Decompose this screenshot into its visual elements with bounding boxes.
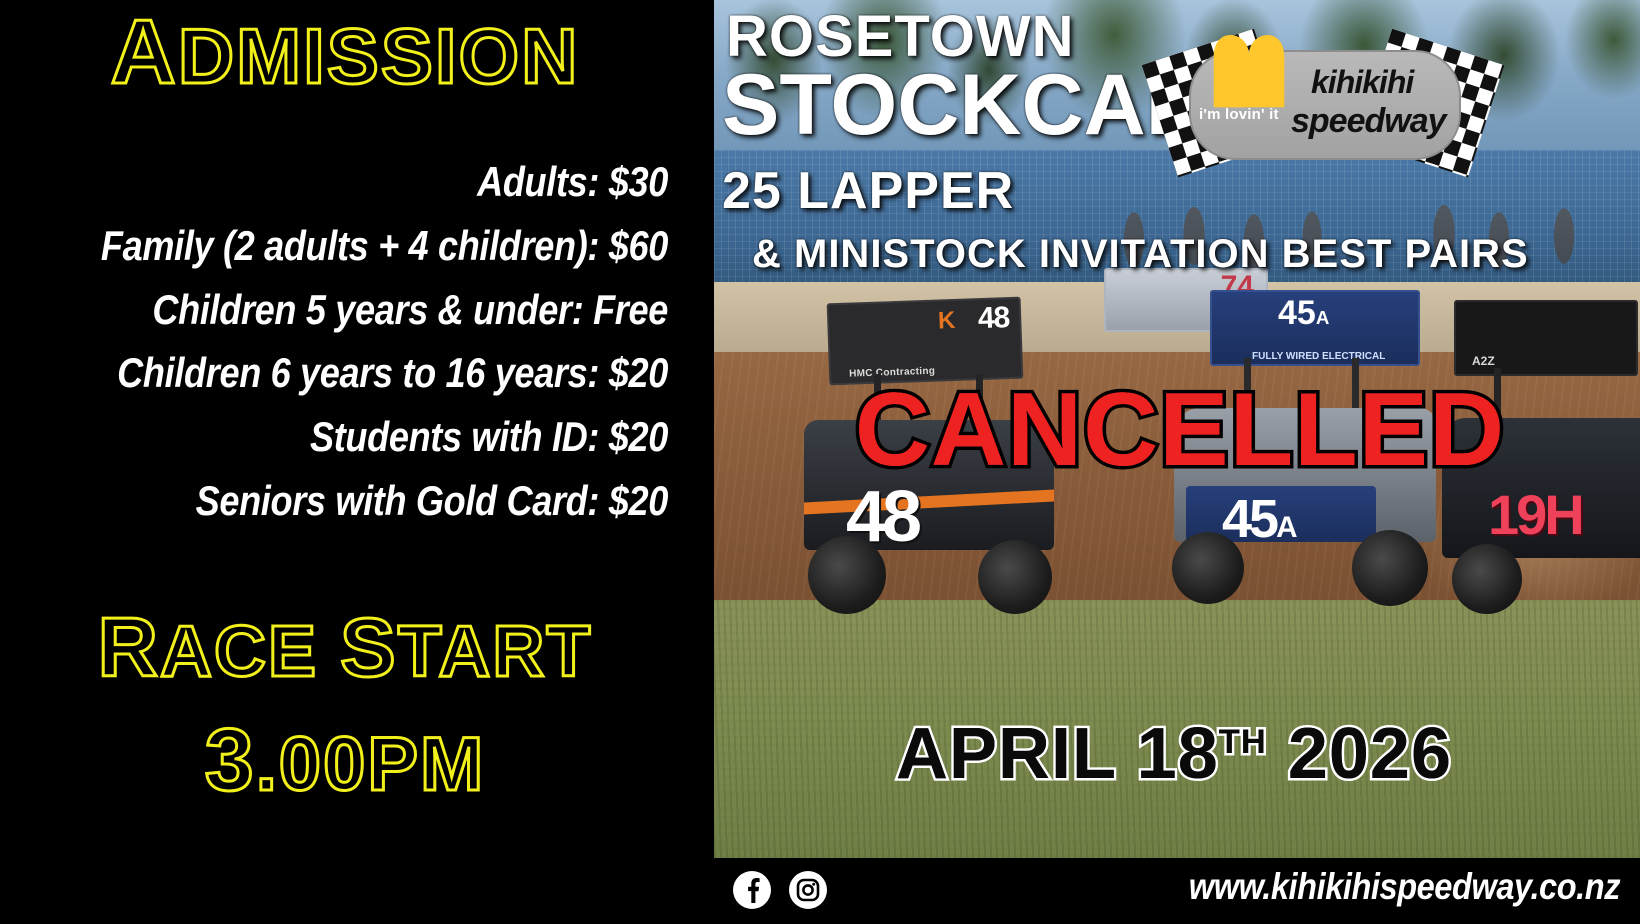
car-19-body-number: 19H — [1488, 482, 1582, 547]
car-48-number: 48 — [977, 301, 1010, 336]
kihikihi-speedway-logo: i'm lovin' it kihikihi speedway — [1163, 24, 1483, 184]
facebook-icon[interactable] — [732, 870, 772, 910]
car-45-sponsor: FULLY WIRED ELECTRICAL — [1252, 351, 1385, 362]
car-19-wing: A2Z — [1454, 300, 1638, 376]
price-row: Students with ID: $20 — [100, 405, 668, 469]
admission-panel: ADMISSION Adults: $30 Family (2 adults +… — [0, 0, 714, 924]
event-poster: ADMISSION Adults: $30 Family (2 adults +… — [0, 0, 1640, 924]
event-title-line4: & Ministock Invitation Best Pairs — [752, 236, 1529, 273]
price-list: Adults: $30 Family (2 adults + 4 childre… — [8, 150, 668, 533]
car-48-tyre — [808, 536, 886, 614]
event-title-line2: Stockcar — [722, 66, 1208, 145]
event-photo: 74 CHEMZ K 48 HMC Contracting 48 45A FUL… — [714, 0, 1640, 858]
price-row: Children 6 years to 16 years: $20 — [100, 341, 668, 405]
date-month-day: April 18 — [896, 714, 1219, 794]
car-48-class-prefix: K — [937, 307, 955, 336]
website-url[interactable]: www.kihikihispeedway.co.nz — [1189, 866, 1620, 908]
instagram-icon[interactable] — [788, 870, 828, 910]
car-19-tyre — [1452, 544, 1522, 614]
car-45-class-suffix: A — [1316, 307, 1330, 328]
car-45-wing: 45A FULLY WIRED ELECTRICAL — [1210, 290, 1420, 366]
car-45-tyre — [1352, 530, 1428, 606]
race-start-heading: RACE START — [0, 606, 690, 690]
admission-heading: ADMISSION — [0, 8, 690, 98]
race-start-time: 3.00PM — [0, 716, 690, 804]
date-year: 2026 — [1288, 714, 1452, 794]
cancelled-fill: CANCELLED — [830, 378, 1530, 482]
car-45-body-number: 45A — [1222, 488, 1295, 550]
social-links — [732, 870, 828, 910]
mcdonalds-tagline: i'm lovin' it — [1199, 106, 1279, 123]
car-45-number: 45A — [1278, 294, 1329, 333]
price-row: Family (2 adults + 4 children): $60 — [100, 214, 668, 278]
date-ordinal: th — [1219, 723, 1267, 761]
footer-bar: www.kihikihispeedway.co.nz — [714, 858, 1640, 924]
price-row: Seniors with Gold Card: $20 — [100, 469, 668, 533]
mcdonalds-arches-icon — [1207, 30, 1291, 114]
event-date: April 18th 2026 April 18th 2026 — [814, 718, 1534, 790]
car-48-tyre — [978, 540, 1052, 614]
event-title-line3: 25 Lapper — [722, 168, 1014, 216]
car-45-tyre — [1172, 532, 1244, 604]
car-45-class-suffix: A — [1276, 511, 1294, 544]
logo-name-line1: kihikihi — [1311, 64, 1413, 101]
cancelled-banner: CANCELLED CANCELLED — [830, 378, 1530, 482]
price-row: Adults: $30 — [100, 150, 668, 214]
event-date-fill: April 18th 2026 — [814, 718, 1534, 790]
car-19-sponsor: A2Z — [1472, 354, 1495, 368]
logo-name-line2: speedway — [1291, 102, 1446, 141]
price-row: Children 5 years & under: Free — [100, 278, 668, 342]
event-title-line1: Rosetown — [726, 10, 1075, 63]
